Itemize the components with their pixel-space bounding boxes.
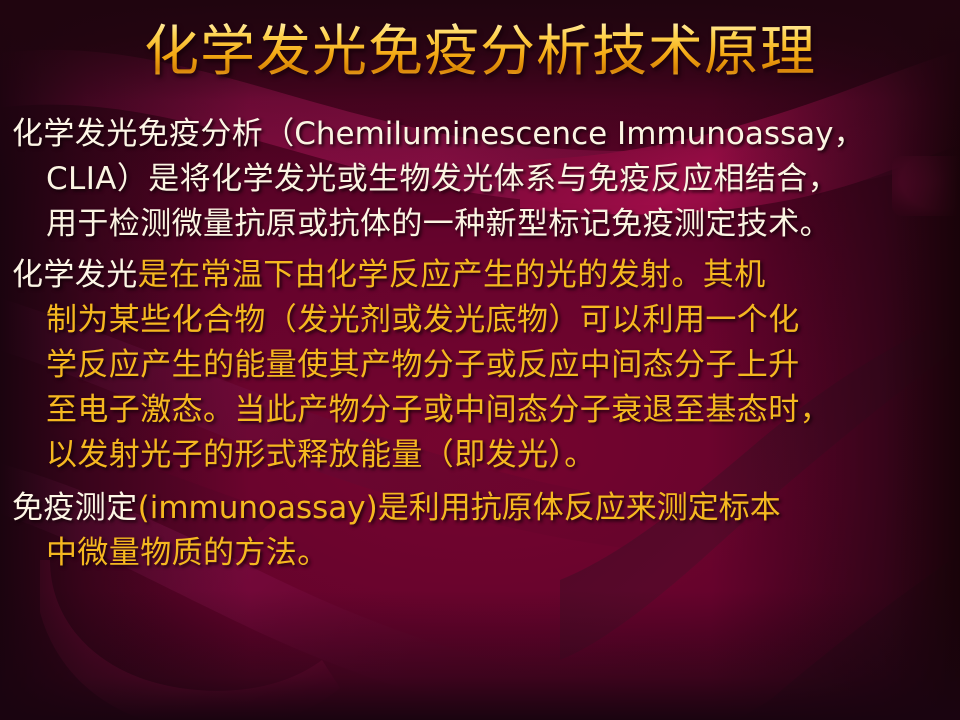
paragraph-2-line4: 至电子激态。当此产物分子或中间态分子衰退至基态时， [12,388,952,433]
paragraph-3-line2: 中微量物质的方法。 [12,531,952,576]
paragraph-3-lead: 免疫测定 [12,490,138,526]
paragraph-2-line3: 学反应产生的能量使其产物分子或反应中间态分子上升 [12,343,952,388]
paragraph-chemiluminescence-definition: 化学发光是在常温下由化学反应产生的光的发射。其机 制为某些化合物（发光剂或发光底… [10,253,952,478]
slide-body: 化学发光免疫分析（Chemiluminescence Immunoassay， … [10,112,952,578]
paragraph-1-line2: CLIA）是将化学发光或生物发光体系与免疫反应相结合， [12,157,952,202]
paragraph-1-line1-tail: （Chemiluminescence Immunoassay， [263,116,864,152]
slide-title: 化学发光免疫分析技术原理 [0,20,960,84]
paragraph-2-line5: 以发射光子的形式释放能量（即发光）。 [12,433,952,478]
paragraph-2-line2: 制为某些化合物（发光剂或发光底物）可以利用一个化 [12,298,952,343]
paragraph-2-lead: 化学发光 [12,257,138,293]
paragraph-clia-definition: 化学发光免疫分析（Chemiluminescence Immunoassay， … [10,112,952,247]
paragraph-3-line1-tail: (immunoassay)是利用抗原体反应来测定标本 [138,490,781,526]
paragraph-1-line3: 用于检测微量抗原或抗体的一种新型标记免疫测定技术。 [12,202,952,247]
slide-canvas: 化学发光免疫分析技术原理 化学发光免疫分析（Chemiluminescence … [0,0,960,720]
paragraph-1-lead: 化学发光免疫分析 [12,116,263,152]
paragraph-2-line1-tail: 是在常温下由化学反应产生的光的发射。其机 [138,257,766,293]
paragraph-immunoassay-definition: 免疫测定(immunoassay)是利用抗原体反应来测定标本 中微量物质的方法。 [10,486,952,576]
